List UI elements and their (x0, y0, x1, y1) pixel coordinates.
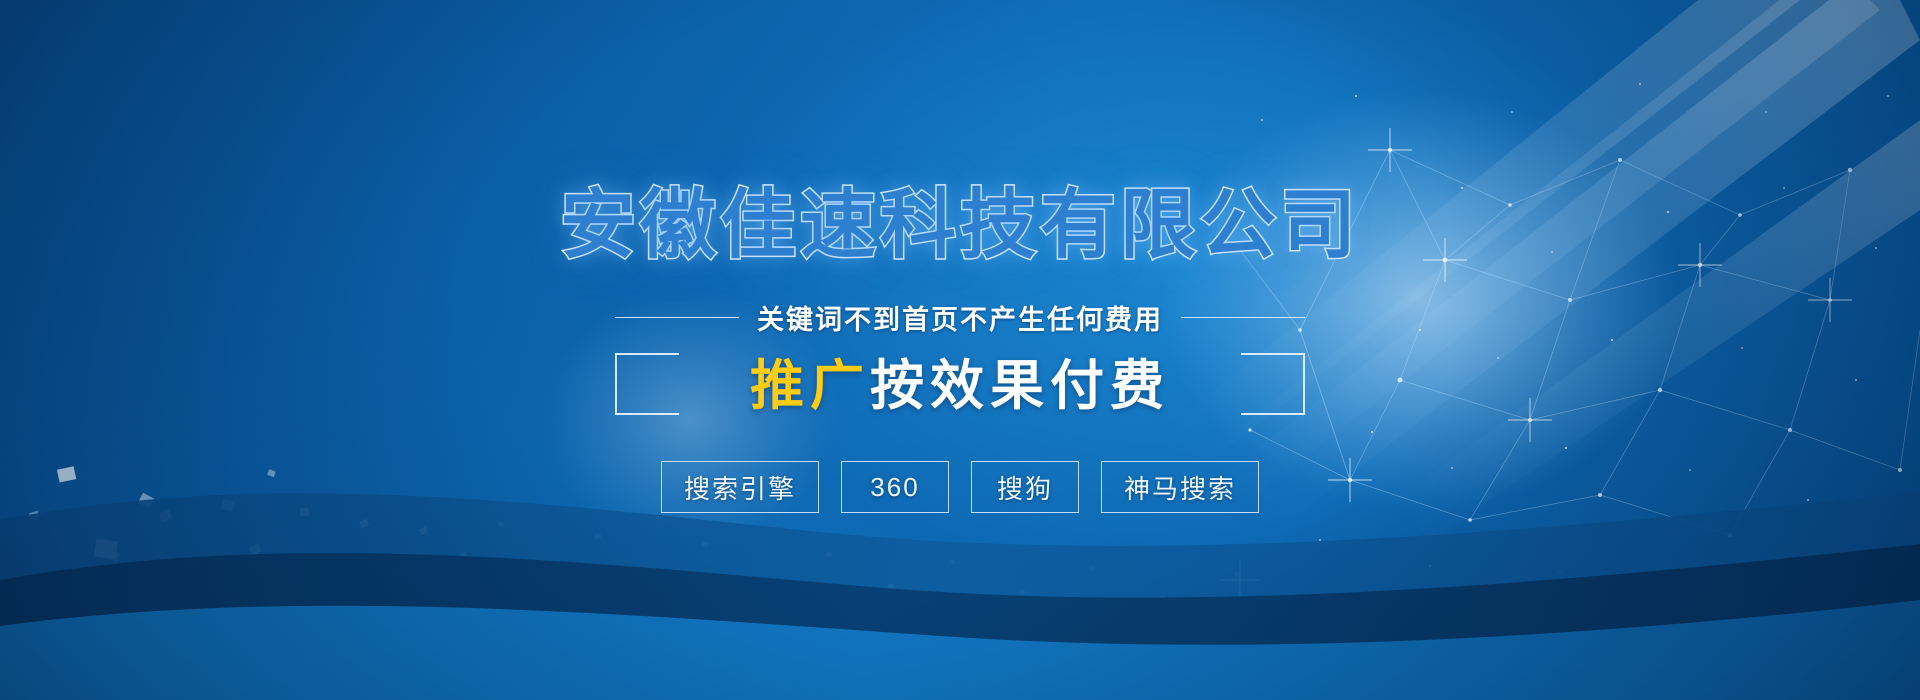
slogan-highlight: 推广 (750, 356, 870, 416)
engine-button-360[interactable]: 360 (841, 461, 949, 513)
company-title: 安徽佳速科技有限公司 (560, 188, 1360, 264)
search-engine-button-row: 搜索引擎 360 搜狗 神马搜索 (661, 461, 1259, 513)
subtitle-rule-right (1181, 317, 1305, 318)
engine-button-shenma[interactable]: 神马搜索 (1101, 461, 1259, 513)
slogan-wrapper: 推广按效果付费 (615, 347, 1305, 425)
bracket-left-decoration (615, 353, 679, 415)
slogan-text: 推广按效果付费 (750, 359, 1170, 413)
slogan-rest: 按效果付费 (870, 356, 1170, 416)
engine-button-search[interactable]: 搜索引擎 (661, 461, 819, 513)
promo-banner: 安徽佳速科技有限公司 关键词不到首页不产生任何费用 推广按效果付费 搜索引擎 3… (0, 0, 1920, 700)
subtitle-rule-left (615, 317, 739, 318)
bracket-right-decoration (1241, 353, 1305, 415)
engine-button-sogou[interactable]: 搜狗 (971, 461, 1079, 513)
subtitle-text: 关键词不到首页不产生任何费用 (757, 298, 1163, 337)
subtitle-row: 关键词不到首页不产生任何费用 (615, 298, 1305, 337)
banner-content: 安徽佳速科技有限公司 关键词不到首页不产生任何费用 推广按效果付费 搜索引擎 3… (0, 0, 1920, 700)
